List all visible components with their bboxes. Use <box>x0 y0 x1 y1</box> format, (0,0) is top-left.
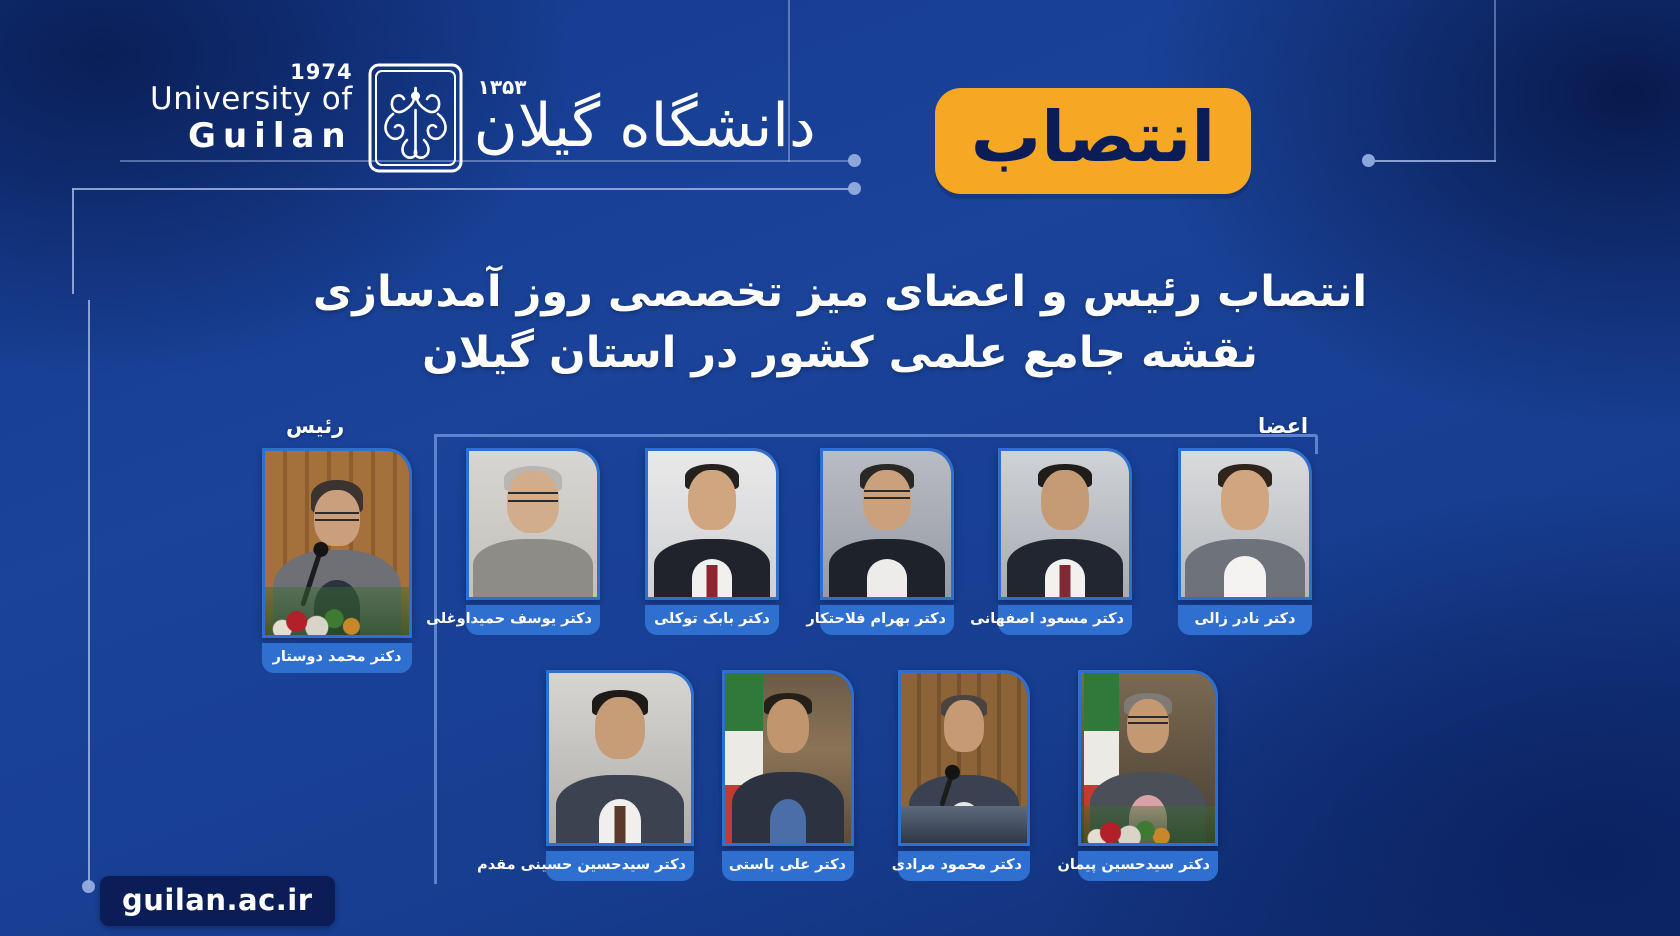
person-photo <box>725 673 851 843</box>
person-card-chair: دکتر محمد دوستار <box>262 448 412 673</box>
page-title: انتصاب رئیس و اعضای میز تخصصی روز آمدساز… <box>300 262 1380 384</box>
person-photo-frame <box>820 448 954 600</box>
decorative-line-top-right-horizontal <box>1375 160 1496 162</box>
person-card-member-9: دکتر سیدحسین پیمان <box>1078 670 1218 881</box>
page-title-line2: نقشه جامع علمی کشور در استان گیلان <box>300 323 1380 384</box>
logo-persian-block: ۱۳۵۳ دانشگاه گیلان <box>464 79 816 158</box>
person-card-member-3: دکتر بهرام فلاحتکار <box>820 448 954 635</box>
website-url-badge[interactable]: guilan.ac.ir <box>100 876 335 926</box>
guilan-university-emblem-icon <box>367 62 464 174</box>
person-name: دکتر علی باستی <box>722 851 854 881</box>
person-photo-frame <box>998 448 1132 600</box>
person-photo <box>1081 673 1215 843</box>
decorative-dot-top-right <box>1362 154 1375 167</box>
person-card-member-7: دکتر علی باستی <box>722 670 854 881</box>
person-photo-frame <box>1178 448 1312 600</box>
members-group-bracket-stem <box>434 434 437 884</box>
person-photo-frame <box>898 670 1030 846</box>
person-photo <box>901 673 1027 843</box>
logo-name-english-line2: Guilan <box>150 119 353 153</box>
decorative-dot-top-left-upper <box>848 154 861 167</box>
person-photo-frame <box>546 670 694 846</box>
person-card-member-5: دکتر نادر زالی <box>1178 448 1312 635</box>
person-photo <box>1181 451 1309 597</box>
person-photo <box>469 451 597 597</box>
person-photo-frame <box>645 448 779 600</box>
person-name: دکتر سیدحسین حسینی مقدم <box>546 851 694 881</box>
person-card-member-6: دکتر سیدحسین حسینی مقدم <box>546 670 694 881</box>
person-name: دکتر بهرام فلاحتکار <box>820 605 954 635</box>
person-photo <box>1001 451 1129 597</box>
person-photo-frame <box>722 670 854 846</box>
decorative-line-left-spine <box>88 300 90 860</box>
page-title-line1: انتصاب رئیس و اعضای میز تخصصی روز آمدساز… <box>300 262 1380 323</box>
website-url-text: guilan.ac.ir <box>122 883 313 917</box>
decorative-dot-top-left-lower <box>848 182 861 195</box>
person-photo <box>648 451 776 597</box>
logo-name-persian: دانشگاه گیلان <box>474 95 816 158</box>
decorative-line-top-left-horizontal <box>72 188 854 190</box>
person-photo-frame <box>1078 670 1218 846</box>
person-photo-frame <box>262 448 412 638</box>
person-photo-frame <box>466 448 600 600</box>
person-photo <box>823 451 951 597</box>
person-name: دکتر نادر زالی <box>1178 605 1312 635</box>
logo-english-block: 1974 University of Guilan <box>150 84 367 153</box>
decorative-line-top-right-vertical <box>1494 0 1496 162</box>
person-card-member-4: دکتر مسعود اصفهانی <box>998 448 1132 635</box>
appointment-badge-label: انتصاب <box>945 102 1241 180</box>
person-name: دکتر یوسف حمیداوغلی <box>466 605 600 635</box>
decorative-line-top-left-vertical <box>72 188 74 294</box>
person-card-member-1: دکتر یوسف حمیداوغلی <box>466 448 600 635</box>
person-name: دکتر سیدحسین پیمان <box>1078 851 1218 881</box>
person-name: دکتر مسعود اصفهانی <box>998 605 1132 635</box>
decorative-dot-left-spine <box>82 880 95 893</box>
person-card-member-2: دکتر بابک توکلی <box>645 448 779 635</box>
group-label-chair: رئیس <box>286 414 344 438</box>
logo-name-english-line1: University of <box>150 84 353 115</box>
person-photo <box>549 673 691 843</box>
person-name: دکتر محمود مرادی <box>898 851 1030 881</box>
appointment-badge: انتصاب <box>935 88 1251 194</box>
university-logo: 1974 University of Guilan ۱۳۵۳ دانشگاه گ… <box>150 62 816 174</box>
logo-year-english: 1974 <box>290 62 352 83</box>
person-name: دکتر بابک توکلی <box>645 605 779 635</box>
logo-year-persian: ۱۳۵۳ <box>478 75 527 99</box>
person-name: دکتر محمد دوستار <box>262 643 412 673</box>
person-photo <box>265 451 409 635</box>
person-card-member-8: دکتر محمود مرادی <box>898 670 1030 881</box>
